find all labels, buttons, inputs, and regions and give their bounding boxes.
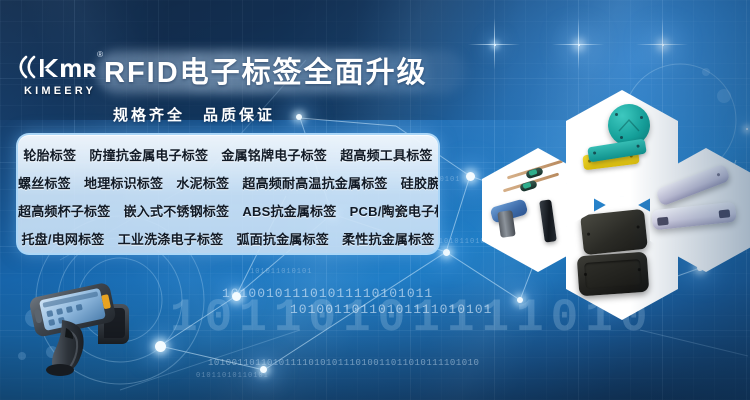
page-title: RFID电子标签全面升级 bbox=[104, 52, 428, 94]
product-tag-row: 螺丝标签 地理标识标签 水泥标签 超高频耐高温抗金属标签 硅胶腕带 bbox=[18, 170, 438, 198]
product-tag-row: 托盘/电网标签 工业洗涤电子标签 弧面抗金属标签 柔性抗金属标签 bbox=[18, 226, 438, 254]
network-node bbox=[260, 366, 267, 373]
brand-logo: ® KIMEERY bbox=[16, 52, 104, 97]
right-edge-fade bbox=[630, 0, 750, 400]
network-node bbox=[232, 292, 241, 301]
page-subtitle: 规格齐全 品质保证 bbox=[113, 104, 275, 125]
network-node bbox=[517, 297, 523, 303]
network-node bbox=[443, 249, 450, 256]
kmr-monogram-icon bbox=[17, 52, 103, 82]
rfid-handheld-reader-icon bbox=[26, 272, 146, 376]
product-tag-row: 超高频杯子标签 嵌入式不锈钢标签 ABS抗金属标签 PCB/陶瓷电子标签 bbox=[18, 198, 438, 226]
product-tag-rows: 轮胎标签 防撞抗金属电子标签 金属铭牌电子标签 超高频工具标签 螺丝标签 地理标… bbox=[18, 135, 438, 254]
network-node bbox=[296, 114, 302, 120]
rod-tag bbox=[539, 199, 557, 242]
rfid-promo-banner: 10110101111010 101001011101011110101011 … bbox=[0, 0, 750, 400]
product-tag-panel: 轮胎标签 防撞抗金属电子标签 金属铭牌电子标签 超高频工具标签 螺丝标签 地理标… bbox=[16, 133, 440, 255]
network-node bbox=[155, 341, 166, 352]
product-tag-row: 轮胎标签 防撞抗金属电子标签 金属铭牌电子标签 超高频工具标签 bbox=[18, 142, 438, 170]
network-node bbox=[466, 172, 475, 181]
logo-mark: ® bbox=[16, 52, 104, 82]
brand-name: KIMEERY bbox=[16, 85, 104, 97]
rfid-handheld-reader bbox=[26, 272, 146, 376]
